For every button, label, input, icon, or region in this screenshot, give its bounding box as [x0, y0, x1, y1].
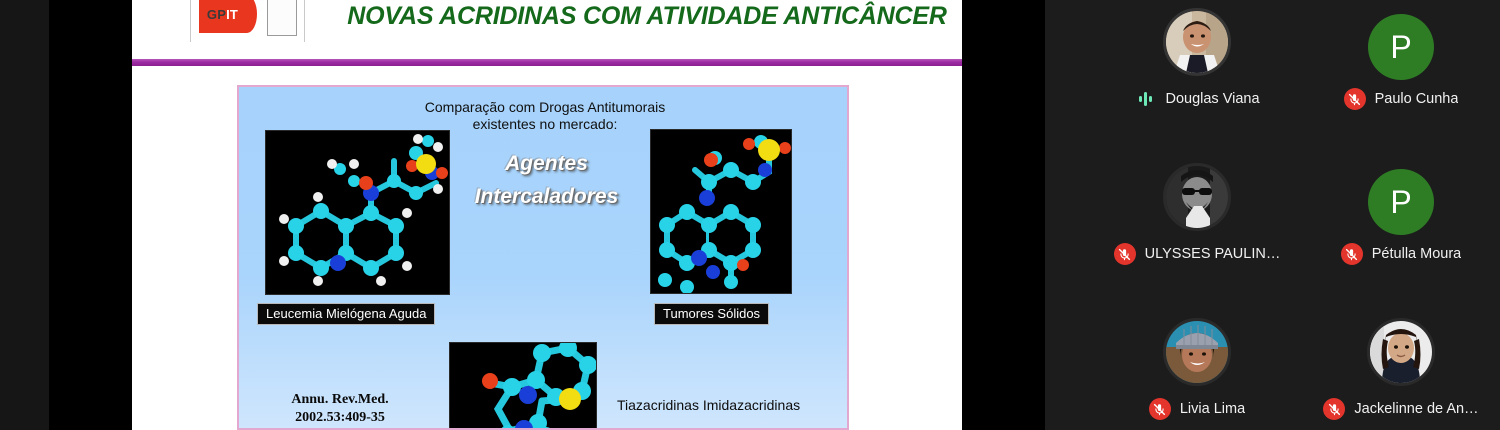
content-heading: Comparação com Drogas Antitumorais exist… — [239, 99, 849, 133]
avatar-photo — [1370, 321, 1432, 383]
thiazacridine-label: Tiazacridinas Imidazacridinas — [617, 397, 800, 413]
mic-muted-icon — [1149, 398, 1171, 420]
agentes-line2: Intercaladores — [444, 180, 649, 213]
participant-name: Paulo Cunha — [1375, 91, 1459, 107]
participant-name: ULYSSES PAULIN… — [1145, 246, 1281, 262]
slide-content-box: Comparação com Drogas Antitumorais exist… — [237, 85, 849, 430]
mic-muted-icon — [1114, 243, 1136, 265]
avatar — [1163, 163, 1231, 231]
mic-muted-icon — [1341, 243, 1363, 265]
participant-footer: Livia Lima — [1091, 396, 1303, 422]
gpit-logo-mark: GPIT — [199, 0, 247, 33]
avatar-ring — [1163, 8, 1231, 76]
gpit-logo-text: GPIT — [207, 7, 238, 22]
participant-panel: Douglas Viana P Paulo Cunha — [1045, 0, 1500, 430]
participant-name: Livia Lima — [1180, 401, 1245, 417]
slide-divider-rule — [132, 59, 962, 66]
participant-tile[interactable]: Jackelinne de An… — [1295, 312, 1500, 430]
avatar: P — [1367, 163, 1435, 231]
avatar-photo — [1166, 11, 1228, 73]
molecule-image-left — [265, 130, 450, 295]
agentes-intercaladores-label: Agentes Intercaladores — [444, 147, 649, 213]
participant-tile[interactable]: Douglas Viana — [1091, 2, 1303, 146]
avatar-ring — [1367, 318, 1435, 386]
audio-waveform-icon — [1134, 88, 1156, 110]
gpit-logo: GPIT — [190, 0, 305, 42]
slide-header: GPIT NOVAS ACRIDINAS COM ATIVIDADE ANTIC… — [132, 0, 962, 45]
gpit-logo-gp: GP — [207, 7, 226, 22]
avatar-initial: P — [1368, 169, 1434, 235]
participant-footer: Paulo Cunha — [1295, 86, 1500, 112]
avatar-photo — [1166, 321, 1228, 383]
gpit-logo-it: IT — [226, 7, 238, 22]
content-heading-line1: Comparação com Drogas Antitumorais — [239, 99, 849, 116]
molecule-image-right — [650, 129, 792, 294]
left-outer-gutter — [0, 0, 49, 430]
participant-footer: ULYSSES PAULIN… — [1091, 241, 1303, 267]
avatar — [1163, 318, 1231, 386]
mic-muted-icon — [1344, 88, 1366, 110]
participant-tile[interactable]: P Pétulla Moura — [1295, 157, 1500, 301]
avatar — [1163, 8, 1231, 76]
avatar-photo — [1166, 166, 1228, 228]
page-outline-icon — [267, 0, 297, 36]
reference-line2: 2002.53:409-35 — [265, 409, 415, 427]
agentes-line1: Agentes — [444, 147, 649, 180]
participant-name: Pétulla Moura — [1372, 246, 1461, 262]
molecule-right-graphic — [651, 130, 792, 294]
participant-tile[interactable]: P Paulo Cunha — [1295, 2, 1500, 146]
participant-tile[interactable]: Livia Lima — [1091, 312, 1303, 430]
screen-root: GPIT NOVAS ACRIDINAS COM ATIVIDADE ANTIC… — [0, 0, 1500, 430]
avatar-ring — [1163, 318, 1231, 386]
caption-tumores: Tumores Sólidos — [654, 303, 769, 325]
molecule-image-bottom — [449, 342, 597, 430]
participant-footer: Jackelinne de An… — [1295, 396, 1500, 422]
participant-name: Douglas Viana — [1165, 91, 1259, 107]
avatar — [1367, 318, 1435, 386]
shared-slide[interactable]: GPIT NOVAS ACRIDINAS COM ATIVIDADE ANTIC… — [132, 0, 962, 430]
participant-name: Jackelinne de An… — [1354, 401, 1478, 417]
avatar-ring — [1163, 163, 1231, 231]
caption-leucemia: Leucemia Mielógena Aguda — [257, 303, 435, 325]
mic-muted-icon — [1323, 398, 1345, 420]
reference-line1: Annu. Rev.Med. — [265, 391, 415, 409]
participant-tile[interactable]: ULYSSES PAULIN… — [1091, 157, 1303, 301]
avatar-initial: P — [1368, 14, 1434, 80]
slide-title: NOVAS ACRIDINAS COM ATIVIDADE ANTICÂNCER — [332, 0, 962, 32]
right-letterbox — [962, 0, 1045, 430]
molecule-bottom-graphic — [450, 343, 597, 430]
reference-citation: Annu. Rev.Med. 2002.53:409-35 — [265, 391, 415, 427]
avatar: P — [1367, 8, 1435, 76]
molecule-left-graphic — [266, 131, 450, 295]
participant-footer: Pétulla Moura — [1295, 241, 1500, 267]
left-letterbox — [49, 0, 132, 430]
participant-footer: Douglas Viana — [1091, 86, 1303, 112]
